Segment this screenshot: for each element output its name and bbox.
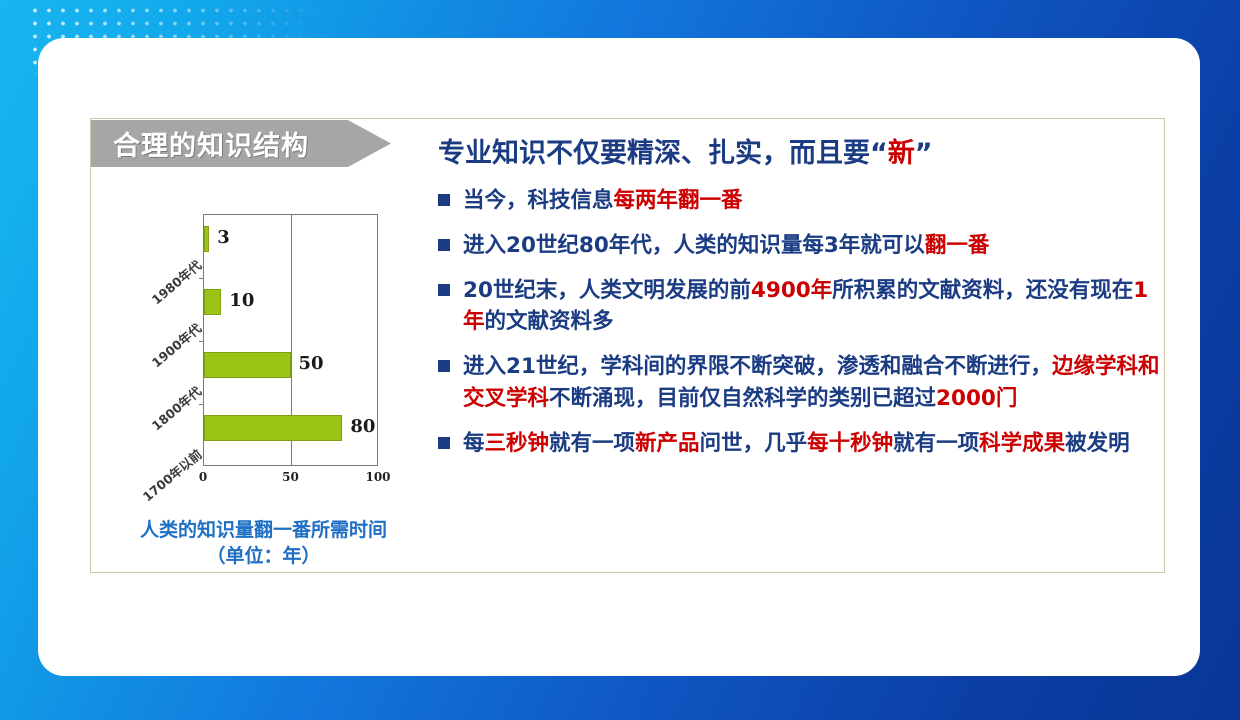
bullet-1-run-0: 当今，科技信息 bbox=[463, 188, 614, 213]
bullet-5-run-2: 就有一项 bbox=[549, 431, 635, 456]
chart-caption-line-1: 人类的知识量翻一番所需时间 bbox=[91, 517, 436, 543]
bullet-4-run-3: 2000门 bbox=[936, 386, 1017, 411]
chart-axis-tick bbox=[199, 404, 204, 405]
headline-run-2: 新 bbox=[888, 138, 915, 169]
bullet-3-run-2: 所积累的文献资料，还没有现在 bbox=[832, 278, 1133, 303]
headline-run-3: ” bbox=[915, 138, 933, 169]
bullet-3: 20世纪末，人类文明发展的前4900年所积累的文献资料，还没有现在1年的文献资料… bbox=[438, 275, 1166, 337]
slide-white-card: 合理的知识结构 1980年代1900年代1800年代1700年以前 310508… bbox=[38, 38, 1200, 676]
bullet-1-text: 当今，科技信息每两年翻一番 bbox=[463, 185, 743, 216]
chart-bar bbox=[204, 289, 221, 315]
headline-run-1: “ bbox=[870, 138, 888, 169]
bullet-1-run-1: 每两年翻一番 bbox=[614, 188, 743, 213]
bullet-5-run-6: 就有一项 bbox=[893, 431, 979, 456]
chart-category-axis: 1980年代1900年代1800年代1700年以前 bbox=[111, 214, 201, 474]
bullet-2: 进入20世纪80年代，人类的知识量每3年就可以翻一番 bbox=[438, 230, 1166, 261]
bullet-square-icon bbox=[438, 360, 450, 372]
bullet-square-icon bbox=[438, 284, 450, 296]
chart-bar-value: 3 bbox=[217, 227, 230, 248]
bullet-1: 当今，科技信息每两年翻一番 bbox=[438, 185, 1166, 216]
bullet-5-text: 每三秒钟就有一项新产品问世，几乎每十秒钟就有一项科学成果被发明 bbox=[463, 428, 1130, 459]
chart-bar-value: 50 bbox=[299, 353, 324, 374]
chart-category-label: 1700年以前 bbox=[138, 444, 206, 505]
bullet-5-run-5: 每十秒钟 bbox=[807, 431, 893, 456]
text-column: 专业知识不仅要精深、扎实，而且要“新” 当今，科技信息每两年翻一番进入20世纪8… bbox=[438, 119, 1166, 459]
bullet-2-run-1: 翻一番 bbox=[925, 233, 990, 258]
bullet-3-run-1: 4900年 bbox=[751, 278, 832, 303]
bullet-square-icon bbox=[438, 194, 450, 206]
knowledge-doubling-chart: 1980年代1900年代1800年代1700年以前 3105080 050100 bbox=[111, 214, 431, 504]
chart-category-label: 1980年代 bbox=[147, 255, 205, 308]
bullet-5: 每三秒钟就有一项新产品问世，几乎每十秒钟就有一项科学成果被发明 bbox=[438, 428, 1166, 459]
bullet-5-run-4: 问世，几乎 bbox=[700, 431, 808, 456]
bullet-5-run-8: 被发明 bbox=[1065, 431, 1130, 456]
headline-run-0: 专业知识不仅要精深、扎实，而且要 bbox=[438, 138, 870, 169]
chart-bar bbox=[204, 415, 342, 441]
chart-axis-tick bbox=[199, 278, 204, 279]
bullet-2-text: 进入20世纪80年代，人类的知识量每3年就可以翻一番 bbox=[463, 230, 989, 261]
chart-bar-value: 80 bbox=[350, 416, 375, 437]
chart-caption-line-2: （单位：年） bbox=[91, 543, 436, 569]
content-panel: 合理的知识结构 1980年代1900年代1800年代1700年以前 310508… bbox=[90, 118, 1165, 573]
chart-column: 合理的知识结构 1980年代1900年代1800年代1700年以前 310508… bbox=[91, 119, 436, 574]
slide-canvas: 合理的知识结构 1980年代1900年代1800年代1700年以前 310508… bbox=[0, 0, 1240, 720]
bullet-5-run-1: 三秒钟 bbox=[485, 431, 550, 456]
chart-caption: 人类的知识量翻一番所需时间 （单位：年） bbox=[91, 517, 436, 569]
chart-x-tick-label: 50 bbox=[282, 470, 299, 484]
chart-bar bbox=[204, 226, 209, 252]
bullet-list: 当今，科技信息每两年翻一番进入20世纪80年代，人类的知识量每3年就可以翻一番2… bbox=[438, 185, 1166, 459]
chart-bar bbox=[204, 352, 291, 378]
bullet-5-run-3: 新产品 bbox=[635, 431, 700, 456]
chart-bar-value: 10 bbox=[229, 290, 254, 311]
chart-category-label: 1900年代 bbox=[147, 318, 205, 371]
chart-category-label: 1800年代 bbox=[147, 381, 205, 434]
chart-x-tick-label: 100 bbox=[365, 470, 390, 484]
headline: 专业知识不仅要精深、扎实，而且要“新” bbox=[438, 137, 1166, 171]
bullet-4: 进入21世纪，学科间的界限不断突破，渗透和融合不断进行，边缘学科和交叉学科不断涌… bbox=[438, 351, 1166, 413]
section-banner: 合理的知识结构 bbox=[91, 120, 391, 167]
section-banner-label: 合理的知识结构 bbox=[113, 124, 309, 163]
chart-axis-tick bbox=[199, 341, 204, 342]
bullet-5-run-7: 科学成果 bbox=[979, 431, 1065, 456]
bullet-4-run-0: 进入21世纪，学科间的界限不断突破，渗透和融合不断进行， bbox=[463, 354, 1052, 379]
bullet-3-run-4: 的文献资料多 bbox=[485, 309, 614, 334]
bullet-square-icon bbox=[438, 239, 450, 251]
bullet-4-run-2: 不断涌现，目前仅自然科学的类别已超过 bbox=[549, 386, 936, 411]
bullet-3-text: 20世纪末，人类文明发展的前4900年所积累的文献资料，还没有现在1年的文献资料… bbox=[463, 275, 1166, 337]
chart-x-tick-label: 0 bbox=[199, 470, 207, 484]
bullet-2-run-0: 进入20世纪80年代，人类的知识量每3年就可以 bbox=[463, 233, 925, 258]
bullet-4-text: 进入21世纪，学科间的界限不断突破，渗透和融合不断进行，边缘学科和交叉学科不断涌… bbox=[463, 351, 1166, 413]
bullet-5-run-0: 每 bbox=[463, 431, 485, 456]
bullet-square-icon bbox=[438, 437, 450, 449]
bullet-3-run-0: 20世纪末，人类文明发展的前 bbox=[463, 278, 751, 303]
